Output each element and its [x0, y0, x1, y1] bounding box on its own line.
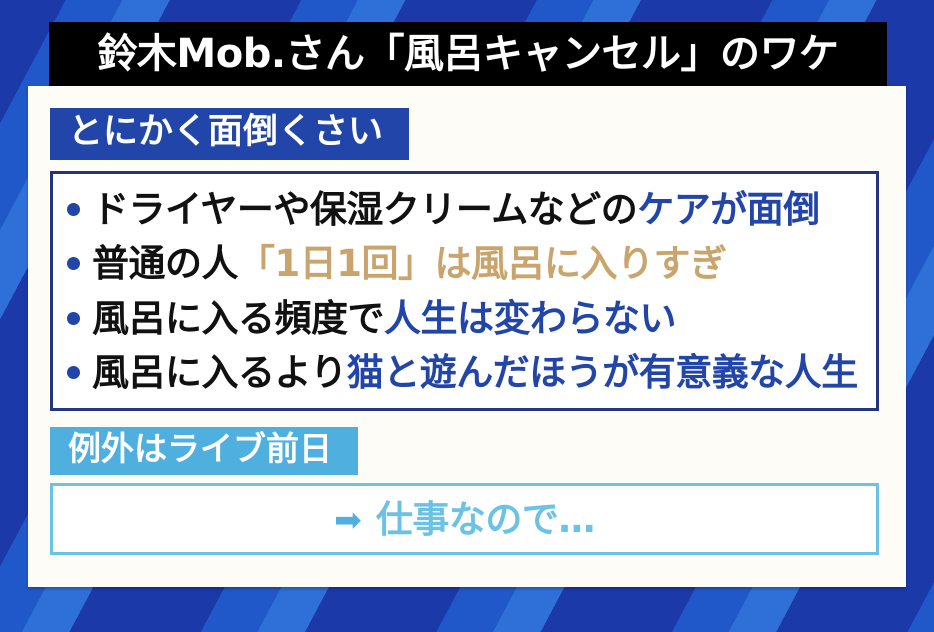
blue-dot-icon	[67, 312, 80, 325]
list-item-text: ドライヤーや保湿クリームなどのケアが面倒	[92, 191, 820, 228]
infographic-slide: 鈴木Mob.さん「風呂キャンセル」のワケ とにかく面倒くさい ドライヤーや保湿ク…	[0, 0, 934, 632]
list-item-segment-plain: 普通の人	[92, 242, 238, 285]
section1-header-banner: とにかく面倒くさい	[50, 108, 409, 160]
content-card: とにかく面倒くさい ドライヤーや保湿クリームなどのケアが面倒 普通の人「1日1回…	[28, 86, 906, 587]
list-item-segment-plain: ドライヤーや保湿クリームなどの	[92, 188, 637, 231]
list-item: ドライヤーや保湿クリームなどのケアが面倒	[63, 191, 870, 228]
title-bar: 鈴木Mob.さん「風呂キャンセル」のワケ	[49, 22, 887, 86]
section1-header-label: とにかく面倒くさい	[68, 114, 383, 151]
list-item-segment-plain: 風呂に入る頻度で	[92, 297, 384, 340]
list-item-segment-highlight: 「1日1回」は風呂に入りすぎ	[238, 242, 727, 285]
page-title: 鈴木Mob.さん「風呂キャンセル」のワケ	[97, 34, 838, 74]
list-item: 風呂に入る頻度で人生は変わらない	[63, 300, 870, 337]
right-arrow-icon: ➡	[334, 503, 362, 536]
list-item-text: 普通の人「1日1回」は風呂に入りすぎ	[92, 245, 727, 282]
list-item-segment-highlight: 人生は変わらない	[384, 297, 676, 340]
blue-dot-icon	[67, 257, 80, 270]
blue-dot-icon	[67, 203, 80, 216]
section2-header-banner: 例外はライブ前日	[50, 427, 358, 475]
section2-header-label: 例外はライブ前日	[68, 432, 332, 467]
answer-text: 仕事なので…	[376, 501, 595, 538]
answer-row: ➡ 仕事なので…	[334, 501, 595, 538]
section1-bullet-list: ドライヤーや保湿クリームなどのケアが面倒 普通の人「1日1回」は風呂に入りすぎ …	[50, 171, 879, 411]
blue-dot-icon	[67, 366, 80, 379]
list-item-segment-highlight: 猫と遊んだほうが有意義な人生	[347, 351, 858, 394]
list-item-text: 風呂に入る頻度で人生は変わらない	[92, 300, 676, 337]
list-item-segment-plain: 風呂に入るより	[92, 351, 347, 394]
section2-answer-box: ➡ 仕事なので…	[50, 483, 879, 555]
list-item: 普通の人「1日1回」は風呂に入りすぎ	[63, 245, 870, 282]
list-item: 風呂に入るより猫と遊んだほうが有意義な人生	[63, 354, 870, 391]
list-item-text: 風呂に入るより猫と遊んだほうが有意義な人生	[92, 354, 858, 391]
list-item-segment-highlight: ケアが面倒	[637, 188, 820, 231]
